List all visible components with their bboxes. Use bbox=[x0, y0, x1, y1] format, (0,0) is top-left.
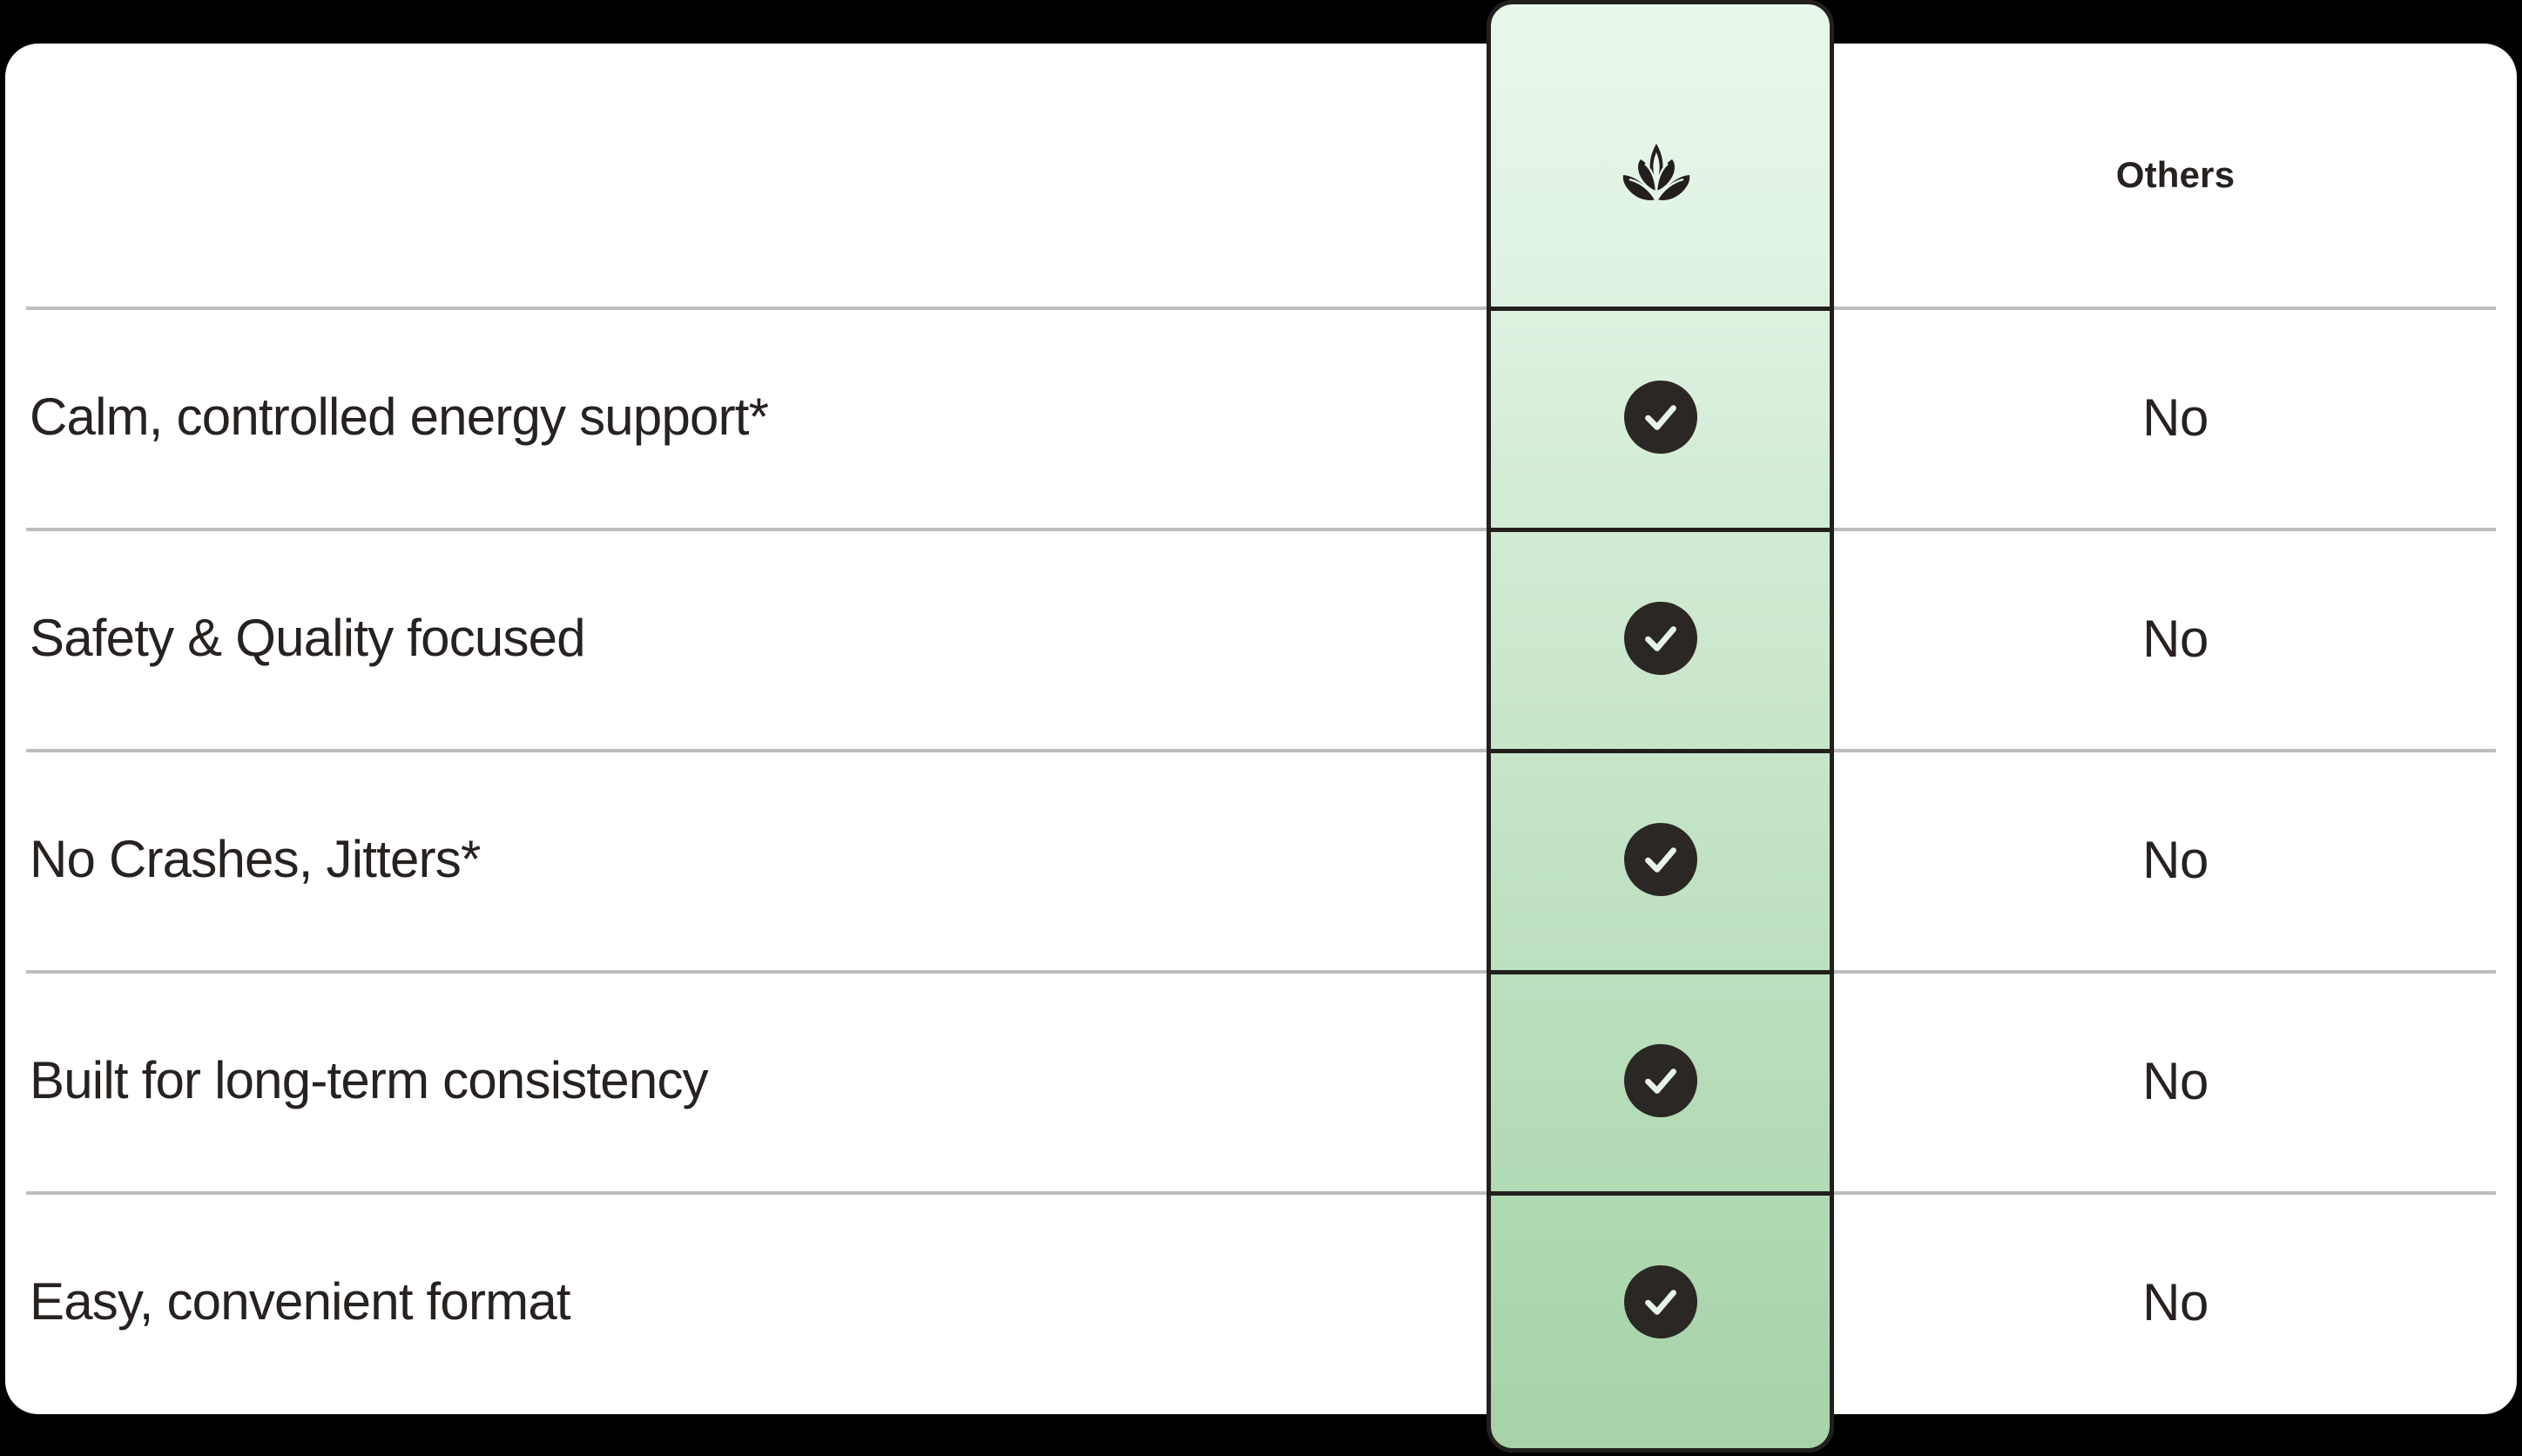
comparison-table-page: Others Calm, controlled energy support* … bbox=[0, 0, 2522, 1456]
table-row: Safety & Quality focused No bbox=[5, 528, 2517, 749]
auric-cell bbox=[1491, 307, 1830, 528]
header-cell-feature bbox=[5, 44, 1487, 307]
check-icon bbox=[1624, 381, 1697, 454]
others-cell: No bbox=[1834, 749, 2517, 970]
header-cell-others: Others bbox=[1834, 44, 2517, 307]
others-value: No bbox=[2142, 1051, 2208, 1111]
others-value: No bbox=[2142, 1272, 2208, 1332]
feature-label: No Crashes, Jitters* bbox=[30, 831, 481, 888]
auric-cell bbox=[1491, 970, 1830, 1191]
feature-cell: Easy, convenient format bbox=[5, 1191, 1487, 1412]
comparison-table: Others Calm, controlled energy support* … bbox=[5, 44, 2517, 1414]
table-header-row: Others bbox=[5, 44, 2517, 307]
table-row: Easy, convenient format No bbox=[5, 1191, 2517, 1412]
auric-cell bbox=[1491, 1191, 1830, 1412]
feature-label: Built for long-term consistency bbox=[30, 1052, 708, 1109]
feature-cell: Calm, controlled energy support* bbox=[5, 307, 1487, 528]
feature-cell: No Crashes, Jitters* bbox=[5, 749, 1487, 970]
others-value: No bbox=[2142, 388, 2208, 448]
auric-column-header bbox=[1491, 0, 1830, 307]
auric-logo bbox=[1619, 140, 1703, 208]
auric-cell bbox=[1491, 528, 1830, 749]
auric-highlight-column bbox=[1487, 0, 1834, 1453]
table-row: Built for long-term consistency No bbox=[5, 970, 2517, 1191]
feature-label: Calm, controlled energy support* bbox=[30, 388, 768, 446]
auric-column-cells bbox=[1491, 0, 1830, 1453]
others-value: No bbox=[2142, 830, 2208, 890]
feature-cell: Built for long-term consistency bbox=[5, 970, 1487, 1191]
check-icon bbox=[1624, 1265, 1697, 1338]
comparison-card: Others Calm, controlled energy support* … bbox=[5, 44, 2517, 1414]
table-row: No Crashes, Jitters* No bbox=[5, 749, 2517, 970]
others-cell: No bbox=[1834, 1191, 2517, 1412]
feature-label: Safety & Quality focused bbox=[30, 610, 585, 667]
check-icon bbox=[1624, 602, 1697, 675]
feature-cell: Safety & Quality focused bbox=[5, 528, 1487, 749]
lotus-leaf-icon bbox=[1619, 140, 1694, 208]
check-icon bbox=[1624, 1044, 1697, 1117]
others-value: No bbox=[2142, 609, 2208, 669]
others-cell: No bbox=[1834, 528, 2517, 749]
others-cell: No bbox=[1834, 970, 2517, 1191]
auric-cell bbox=[1491, 749, 1830, 970]
feature-label: Easy, convenient format bbox=[30, 1273, 570, 1331]
table-row: Calm, controlled energy support* No bbox=[5, 307, 2517, 528]
others-column-header: Others bbox=[2116, 154, 2235, 196]
check-icon bbox=[1624, 823, 1697, 896]
others-cell: No bbox=[1834, 307, 2517, 528]
